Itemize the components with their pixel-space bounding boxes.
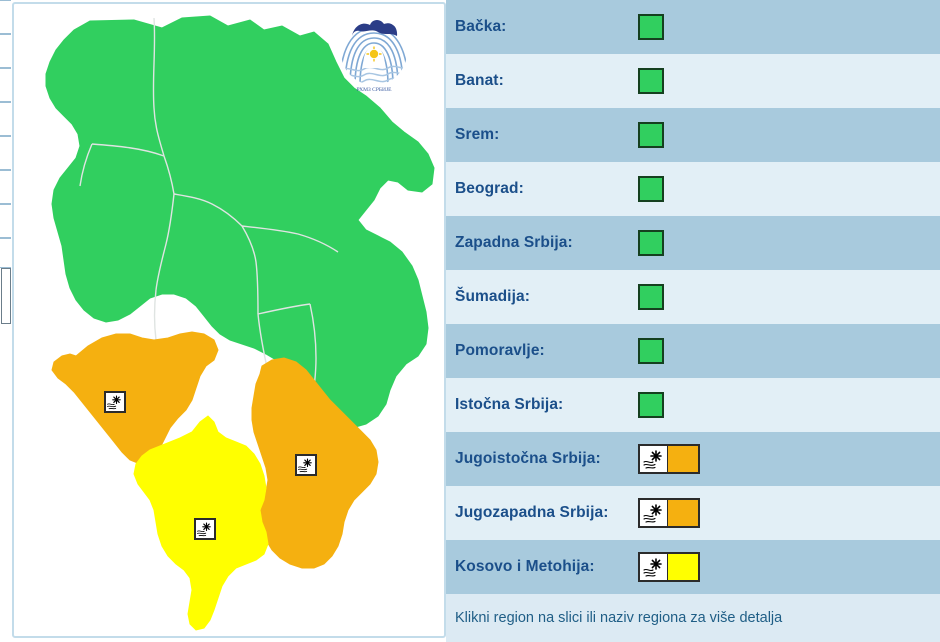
snow-wind-icon bbox=[106, 393, 124, 411]
snow-wind-icon bbox=[642, 502, 666, 524]
rhmz-logo: РХМЗ СРБИЈЕ bbox=[332, 12, 416, 96]
region-row[interactable]: Pomoravlje: bbox=[446, 324, 940, 378]
region-warning-cell bbox=[638, 324, 664, 378]
region-row[interactable]: Kosovo i Metohija: bbox=[446, 540, 940, 594]
region-row[interactable]: Šumadija: bbox=[446, 270, 940, 324]
region-warning-cell bbox=[638, 486, 700, 540]
warning-level-swatch bbox=[638, 122, 664, 148]
region-label[interactable]: Kosovo i Metohija: bbox=[455, 558, 635, 576]
region-warning-cell bbox=[638, 378, 664, 432]
warning-level-swatch bbox=[638, 176, 664, 202]
region-warning-cell bbox=[638, 162, 664, 216]
snow-wind-icon bbox=[640, 446, 668, 472]
region-label[interactable]: Jugozapadna Srbija: bbox=[455, 504, 635, 522]
weather-warning-page: РХМЗ СРБИЈЕ bbox=[0, 0, 940, 642]
region-warning-cell bbox=[638, 54, 664, 108]
snow-wind-badge-jugozapadna[interactable] bbox=[104, 391, 126, 413]
footer-hint: Klikni region na slici ili naziv regiona… bbox=[446, 594, 940, 642]
snow-wind-icon bbox=[196, 520, 214, 538]
snow-wind-icon bbox=[640, 554, 668, 580]
warning-level-color bbox=[668, 554, 698, 580]
serbia-region-map[interactable] bbox=[14, 4, 444, 636]
snow-wind-icon bbox=[640, 500, 668, 526]
warning-level-swatch bbox=[638, 392, 664, 418]
region-label[interactable]: Banat: bbox=[455, 72, 635, 90]
warning-icon-swatch bbox=[638, 444, 700, 474]
warning-level-swatch bbox=[638, 14, 664, 40]
region-warning-cell bbox=[638, 0, 664, 54]
region-row[interactable]: Beograd: bbox=[446, 162, 940, 216]
region-row[interactable]: Srem: bbox=[446, 108, 940, 162]
region-row[interactable]: Banat: bbox=[446, 54, 940, 108]
region-warning-list: Bačka:Banat:Srem:Beograd:Zapadna Srbija:… bbox=[446, 0, 940, 642]
warning-icon-swatch bbox=[638, 498, 700, 528]
warning-level-swatch bbox=[638, 284, 664, 310]
region-warning-cell bbox=[638, 540, 700, 594]
logo-caption: РХМЗ СРБИЈЕ bbox=[356, 87, 392, 93]
region-row[interactable]: Istočna Srbija: bbox=[446, 378, 940, 432]
snow-wind-icon bbox=[642, 448, 666, 470]
warning-level-color bbox=[668, 446, 698, 472]
region-warning-cell bbox=[638, 432, 700, 486]
region-row[interactable]: Jugozapadna Srbija: bbox=[446, 486, 940, 540]
snow-wind-icon bbox=[297, 456, 315, 474]
region-label[interactable]: Jugoistočna Srbija: bbox=[455, 450, 635, 468]
region-row[interactable]: Bačka: bbox=[446, 0, 940, 54]
region-label[interactable]: Zapadna Srbija: bbox=[455, 234, 635, 252]
region-label[interactable]: Srem: bbox=[455, 126, 635, 144]
region-label[interactable]: Šumadija: bbox=[455, 288, 635, 306]
region-label[interactable]: Pomoravlje: bbox=[455, 342, 635, 360]
map-canvas[interactable]: РХМЗ СРБИЈЕ bbox=[14, 4, 444, 636]
region-row[interactable]: Zapadna Srbija: bbox=[446, 216, 940, 270]
warning-level-swatch bbox=[638, 68, 664, 94]
region-warning-cell bbox=[638, 108, 664, 162]
region-warning-cell bbox=[638, 216, 664, 270]
snow-wind-icon bbox=[642, 556, 666, 578]
region-label[interactable]: Bačka: bbox=[455, 18, 635, 36]
warning-icon-swatch bbox=[638, 552, 700, 582]
region-label[interactable]: Beograd: bbox=[455, 180, 635, 198]
region-row[interactable]: Jugoistočna Srbija: bbox=[446, 432, 940, 486]
warning-level-color bbox=[668, 500, 698, 526]
region-label[interactable]: Istočna Srbija: bbox=[455, 396, 635, 414]
footer-hint-text: Klikni region na slici ili naziv regiona… bbox=[455, 610, 782, 626]
map-panel[interactable]: РХМЗ СРБИЈЕ bbox=[12, 2, 446, 638]
edge-strip-box bbox=[1, 268, 11, 324]
left-edge-strip bbox=[0, 0, 11, 642]
snow-wind-badge-jugoistocna[interactable] bbox=[295, 454, 317, 476]
warning-level-swatch bbox=[638, 338, 664, 364]
warning-level-swatch bbox=[638, 230, 664, 256]
region-warning-cell bbox=[638, 270, 664, 324]
snow-wind-badge-kosovo[interactable] bbox=[194, 518, 216, 540]
